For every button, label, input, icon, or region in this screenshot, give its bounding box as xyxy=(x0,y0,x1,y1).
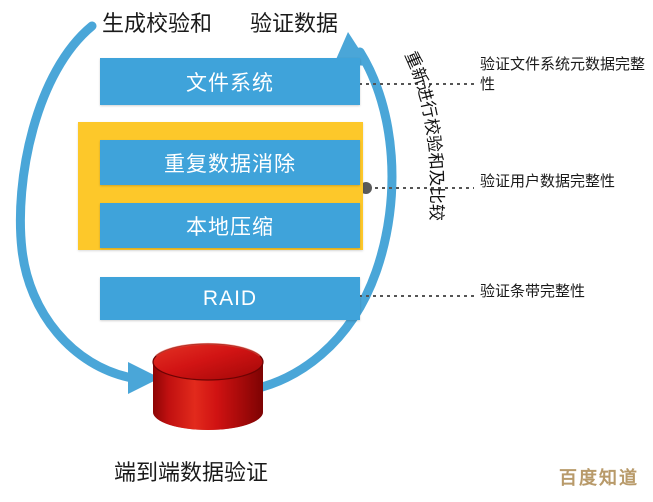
annotation-filesystem: 验证文件系统元数据完整性 xyxy=(480,55,650,95)
stack-box-filesystem[interactable]: 文件系统 xyxy=(100,58,360,105)
label-generate-checksum: 生成校验和 xyxy=(102,6,212,38)
stack-box-compression-label: 本地压缩 xyxy=(186,211,274,241)
annotation-raid-stripe: 验证条带完整性 xyxy=(480,282,650,302)
diagram-canvas: 文件系统 重复数据消除 本地压缩 RAID 生成校验和 验证数据 重新进行校验和… xyxy=(0,0,653,502)
stack-box-filesystem-label: 文件系统 xyxy=(186,67,274,97)
bottom-caption: 端到端数据验证 xyxy=(114,455,268,487)
annotation-user-data: 验证用户数据完整性 xyxy=(480,172,650,192)
stack-box-raid-label: RAID xyxy=(203,287,257,311)
watermark: 百度知道 xyxy=(559,464,639,490)
leader-lines xyxy=(344,78,474,302)
stack-box-compression[interactable]: 本地压缩 xyxy=(100,203,360,248)
stack-box-raid[interactable]: RAID xyxy=(100,277,360,320)
label-verify-data: 验证数据 xyxy=(250,6,338,38)
stack-box-dedup-label: 重复数据消除 xyxy=(164,148,296,178)
storage-cylinder xyxy=(153,344,263,430)
stack-box-dedup[interactable]: 重复数据消除 xyxy=(100,140,360,185)
